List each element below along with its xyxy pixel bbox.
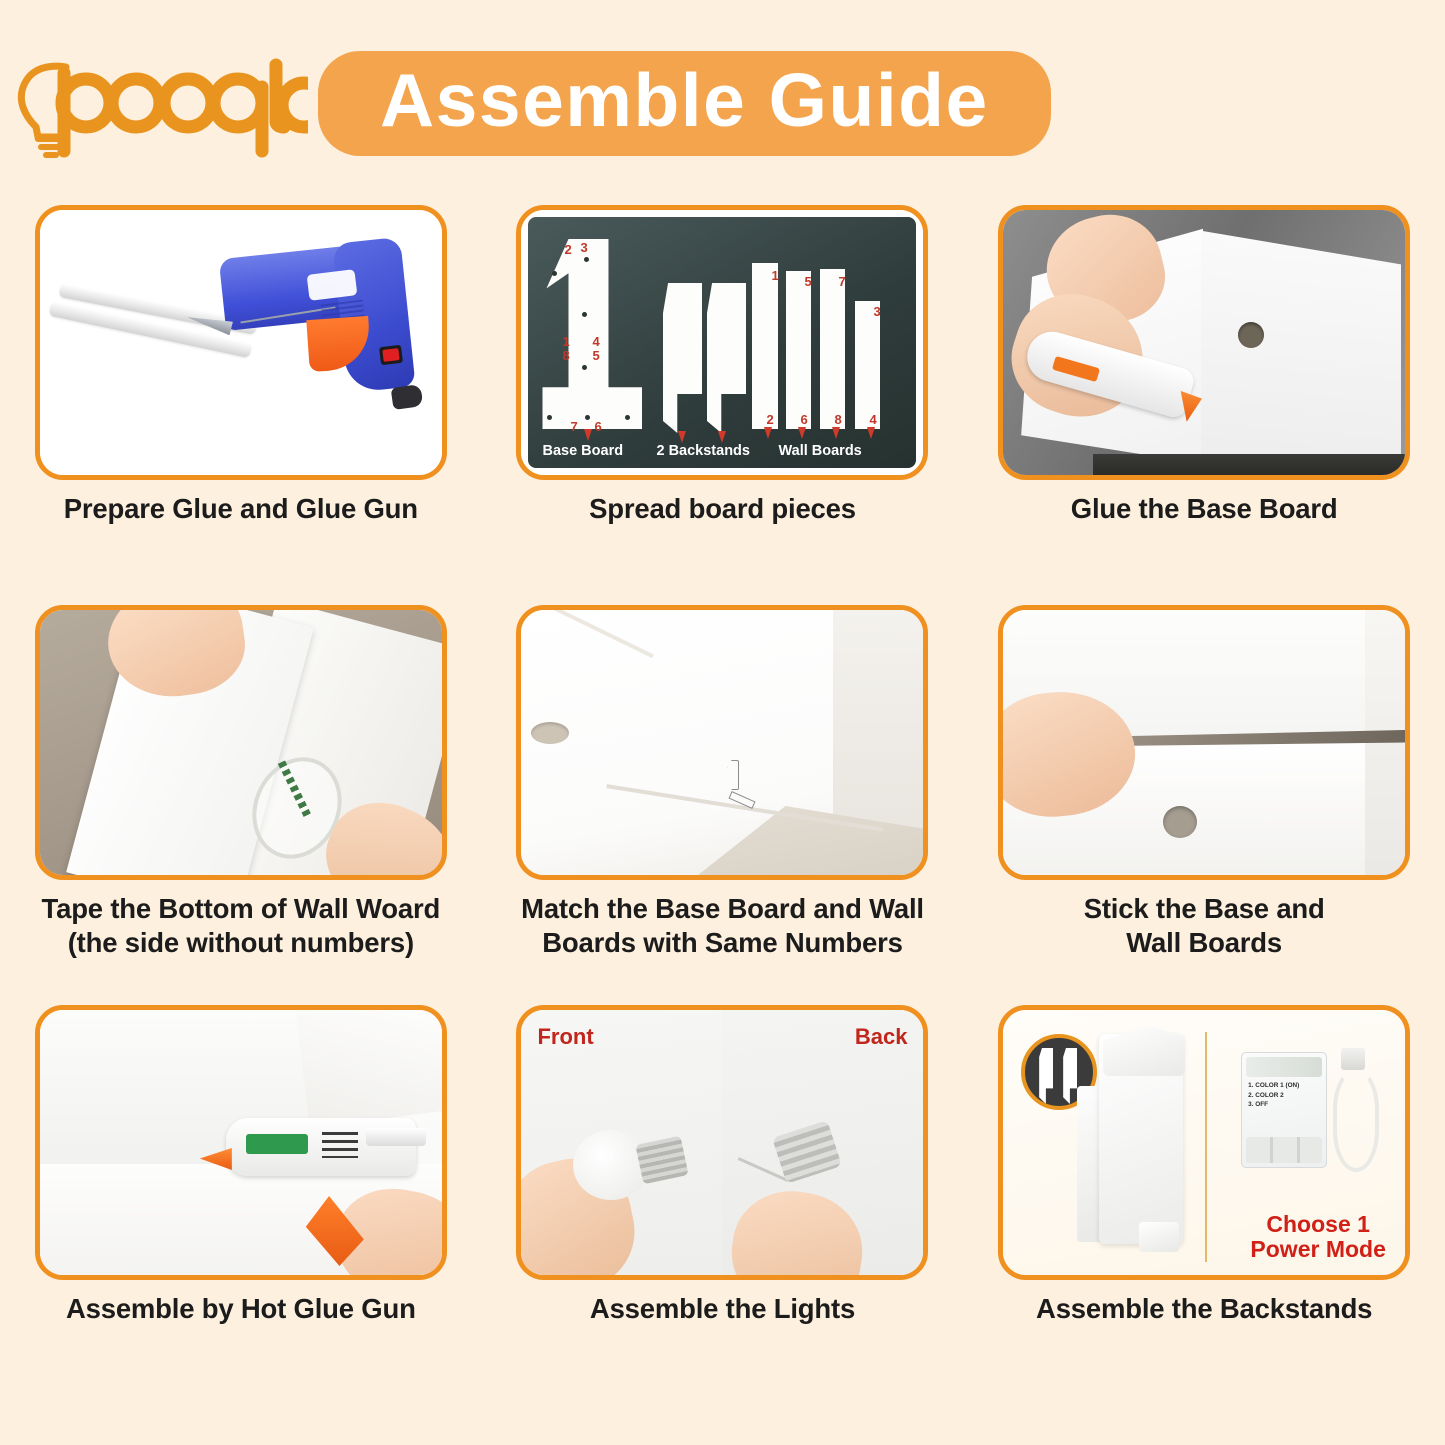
- step-image-5: [516, 605, 928, 880]
- caption-line-1: Match the Base Board and Wall: [521, 893, 924, 924]
- step-caption-1: Prepare Glue and Glue Gun: [26, 492, 456, 526]
- wall-board-number-8: 8: [834, 413, 841, 426]
- battery-mode-list: 1. COLOR 1 (ON) 2. COLOR 2 3. OFF: [1248, 1081, 1322, 1110]
- bulb-screw-base: [636, 1136, 689, 1185]
- light-bulb: [573, 1130, 649, 1200]
- white-board: [295, 1005, 447, 1127]
- wall-board-number-7: 7: [838, 275, 845, 288]
- step-caption-4: Tape the Bottom of Wall Woard (the side …: [26, 892, 456, 959]
- lightbulb-icon: [8, 47, 308, 159]
- step-image-9: 1. COLOR 1 (ON) 2. COLOR 2 3. OFF Choose…: [998, 1005, 1410, 1280]
- step-caption-7: Assemble by Hot Glue Gun: [26, 1292, 456, 1326]
- battery-box: 1. COLOR 1 (ON) 2. COLOR 2 3. OFF: [1241, 1052, 1327, 1168]
- glue-gun-vents: [322, 1132, 358, 1158]
- glue-gun-heel: [390, 384, 423, 410]
- wall-board-number-3: 3: [873, 305, 880, 318]
- step-caption-6: Stick the Base and Wall Boards: [989, 892, 1419, 959]
- board-hole: [531, 722, 569, 744]
- wall-board-number-4: 4: [869, 413, 876, 426]
- step-caption-2: Spread board pieces: [507, 492, 937, 526]
- number-marking: [727, 760, 739, 790]
- step-card-1: Prepare Glue and Glue Gun: [0, 205, 482, 605]
- caption-line-1: Spread board pieces: [589, 493, 856, 524]
- caption-line-1: Prepare Glue and Glue Gun: [64, 493, 418, 524]
- backstands-arrow: [718, 431, 726, 443]
- battery-cells: [1246, 1137, 1322, 1163]
- step-card-3: Glue the Base Board: [963, 205, 1445, 605]
- step-caption-3: Glue the Base Board: [989, 492, 1419, 526]
- hot-glue-gun-photo: [40, 1010, 442, 1275]
- battery-mode-1: 1. COLOR 1 (ON): [1248, 1081, 1322, 1091]
- vertical-divider: [1205, 1032, 1207, 1262]
- taping-wall-board-photo: [40, 610, 442, 875]
- glue-gun-power-switch: [379, 345, 403, 366]
- caption-line-1: Assemble the Lights: [590, 1293, 855, 1324]
- step-image-2: 2 3 1 8 4 5 7 6: [516, 205, 928, 480]
- step-image-1: [35, 205, 447, 480]
- base-number-1: 1: [562, 335, 569, 348]
- base-number-5: 5: [592, 349, 599, 362]
- caption-line-1: Tape the Bottom of Wall Woard: [42, 893, 441, 924]
- label-backstands: 2 Backstands: [656, 443, 750, 459]
- caption-line-1: Assemble by Hot Glue Gun: [66, 1293, 416, 1324]
- base-number-8: 8: [562, 349, 569, 362]
- bulb-socket: [772, 1120, 842, 1184]
- wall-board-piece: [855, 301, 880, 429]
- page-title: Assemble Guide: [380, 63, 989, 138]
- page-header: Assemble Guide: [0, 28, 1445, 178]
- board-pieces-photo: 2 3 1 8 4 5 7 6: [521, 210, 923, 475]
- step-caption-9: Assemble the Backstands: [989, 1292, 1419, 1326]
- wall-board-arrow: [798, 427, 806, 439]
- sticking-boards-photo: [1003, 610, 1405, 875]
- table-edge: [1093, 454, 1410, 480]
- base-number-4: 4: [592, 335, 599, 348]
- backstand-piece: [660, 283, 702, 433]
- caption-line-2: Boards with Same Numbers: [507, 926, 937, 960]
- wall-board-number-2: 2: [766, 413, 773, 426]
- step-card-9: 1. COLOR 1 (ON) 2. COLOR 2 3. OFF Choose…: [963, 1005, 1445, 1405]
- caption-line-2: (the side without numbers): [26, 926, 456, 960]
- step-caption-8: Assemble the Lights: [507, 1292, 937, 1326]
- gluing-base-board-photo: [1003, 210, 1405, 475]
- brand-logo: [0, 43, 310, 163]
- glue-gun-photo: [40, 210, 442, 475]
- front-label: Front: [537, 1024, 593, 1050]
- board-edge: [545, 605, 655, 658]
- wall-board-arrow: [764, 427, 772, 439]
- board-hole: [1163, 806, 1197, 838]
- step-image-7: [35, 1005, 447, 1280]
- label-wall-boards: Wall Boards: [778, 443, 861, 459]
- board-hole: [1238, 322, 1264, 348]
- step-image-3: [998, 205, 1410, 480]
- power-mode-line-1: Choose 1: [1225, 1212, 1410, 1238]
- matching-numbers-photo: [521, 610, 923, 875]
- backstand-shape: [1039, 1048, 1053, 1104]
- glue-gun-label: [246, 1134, 308, 1154]
- white-board: [1201, 226, 1401, 466]
- battery-mode-2: 2. COLOR 2: [1248, 1091, 1322, 1101]
- back-view-panel: Back: [722, 1010, 923, 1275]
- backstand-piece: [704, 283, 746, 433]
- wall-board-number-5: 5: [804, 275, 811, 288]
- caption-line-1: Glue the Base Board: [1071, 493, 1338, 524]
- wall-board-piece: [820, 269, 845, 429]
- base-number-3: 3: [580, 241, 587, 254]
- wall-board-number-1: 1: [771, 269, 778, 282]
- steps-grid: Prepare Glue and Glue Gun 2 3 1 8: [0, 205, 1445, 1405]
- step-image-8: Front Back: [516, 1005, 928, 1280]
- side-board: [1365, 610, 1405, 880]
- caption-line-1: Assemble the Backstands: [1036, 1293, 1372, 1324]
- caption-line-1: Stick the Base and: [1084, 893, 1325, 924]
- wall-board-arrow: [832, 427, 840, 439]
- front-view-panel: Front: [521, 1010, 722, 1275]
- wall-board: [833, 606, 927, 836]
- step-card-4: Tape the Bottom of Wall Woard (the side …: [0, 605, 482, 1005]
- backstand-foot: [1139, 1222, 1179, 1252]
- page-title-pill: Assemble Guide: [318, 51, 1051, 156]
- lights-photo: Front Back: [521, 1010, 923, 1275]
- backstands-power-photo: 1. COLOR 1 (ON) 2. COLOR 2 3. OFF Choose…: [1003, 1010, 1405, 1275]
- step-image-6: [998, 605, 1410, 880]
- diagram-background: 2 3 1 8 4 5 7 6: [528, 217, 916, 468]
- battery-mode-3: 3. OFF: [1248, 1100, 1322, 1110]
- step-card-2: 2 3 1 8 4 5 7 6: [482, 205, 964, 605]
- wall-board-piece: [752, 263, 778, 429]
- wall-board-arrow: [867, 427, 875, 439]
- step-card-7: Assemble by Hot Glue Gun: [0, 1005, 482, 1405]
- caption-line-2: Wall Boards: [989, 926, 1419, 960]
- base-number-7: 7: [570, 420, 577, 433]
- wall-board-piece: [786, 271, 811, 429]
- wall-board-number-6: 6: [800, 413, 807, 426]
- hand: [725, 1184, 870, 1275]
- power-mode-callout: Choose 1 Power Mode: [1225, 1212, 1410, 1264]
- step-card-5: Match the Base Board and Wall Boards wit…: [482, 605, 964, 1005]
- step-card-8: Front Back Assemble the Lights: [482, 1005, 964, 1405]
- assemble-guide-page: Assemble Guide: [0, 0, 1445, 1445]
- step-card-6: Stick the Base and Wall Boards: [963, 605, 1445, 1005]
- back-label: Back: [855, 1024, 908, 1050]
- step-image-4: [35, 605, 447, 880]
- backstands-arrow: [678, 431, 686, 443]
- usb-cable: [1333, 1068, 1379, 1172]
- step-caption-5: Match the Base Board and Wall Boards wit…: [507, 892, 937, 959]
- usb-connector: [1341, 1048, 1365, 1070]
- glue-stick: [366, 1128, 426, 1146]
- battery-box-top: [1246, 1057, 1322, 1077]
- base-board-arrow: [584, 429, 592, 441]
- label-base-board: Base Board: [542, 443, 623, 459]
- base-number-2: 2: [564, 243, 571, 256]
- backstand-shape: [1063, 1048, 1077, 1104]
- power-mode-line-2: Power Mode: [1225, 1237, 1410, 1263]
- base-number-6: 6: [594, 420, 601, 433]
